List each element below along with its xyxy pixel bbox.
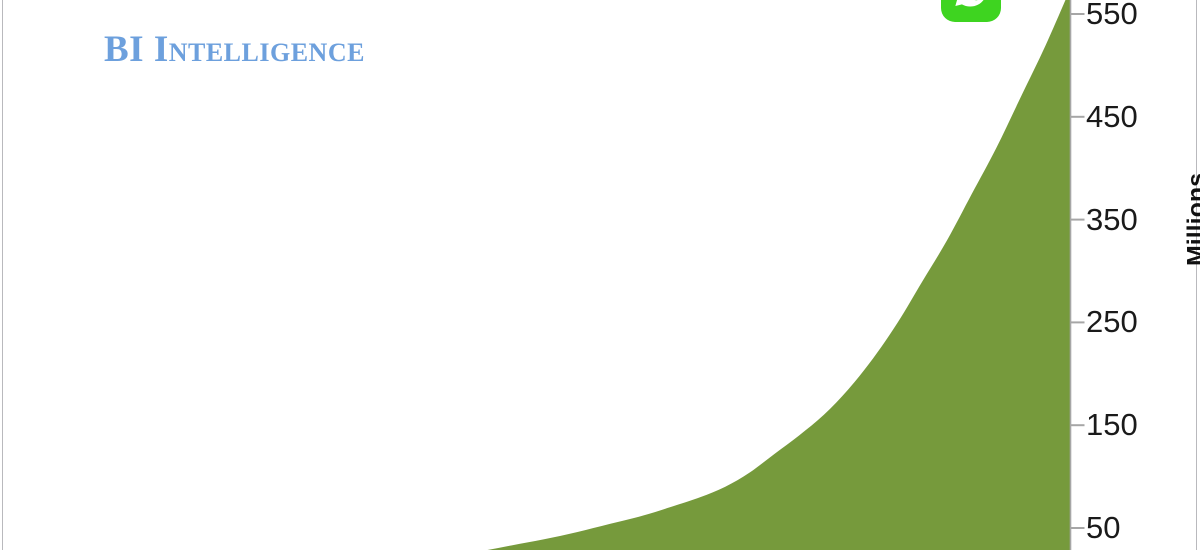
y-axis-tick-label: 50 xyxy=(1086,512,1156,543)
y-axis-group xyxy=(1071,0,1085,550)
y-axis-ticks xyxy=(1071,14,1085,528)
y-axis-tick-label: 350 xyxy=(1086,204,1156,235)
y-axis-tick-label: 550 xyxy=(1086,0,1156,29)
chart-canvas: BI Intelligence 55045035025015050 Millio… xyxy=(0,0,1200,550)
whatsapp-glyph xyxy=(941,0,1001,22)
brand-logo-rest: Intelligence xyxy=(154,29,365,70)
y-axis-tick-label: 450 xyxy=(1086,101,1156,132)
y-axis-title: Millions xyxy=(1183,160,1200,280)
whatsapp-icon xyxy=(941,0,1001,22)
brand-logo: BI Intelligence xyxy=(104,31,365,68)
y-axis-tick-label: 150 xyxy=(1086,409,1156,440)
brand-logo-lead: BI xyxy=(104,29,144,70)
area-chart-plot xyxy=(0,0,1200,550)
area-series-whatsapp-users xyxy=(248,0,1071,550)
y-axis-tick-label: 250 xyxy=(1086,306,1156,337)
